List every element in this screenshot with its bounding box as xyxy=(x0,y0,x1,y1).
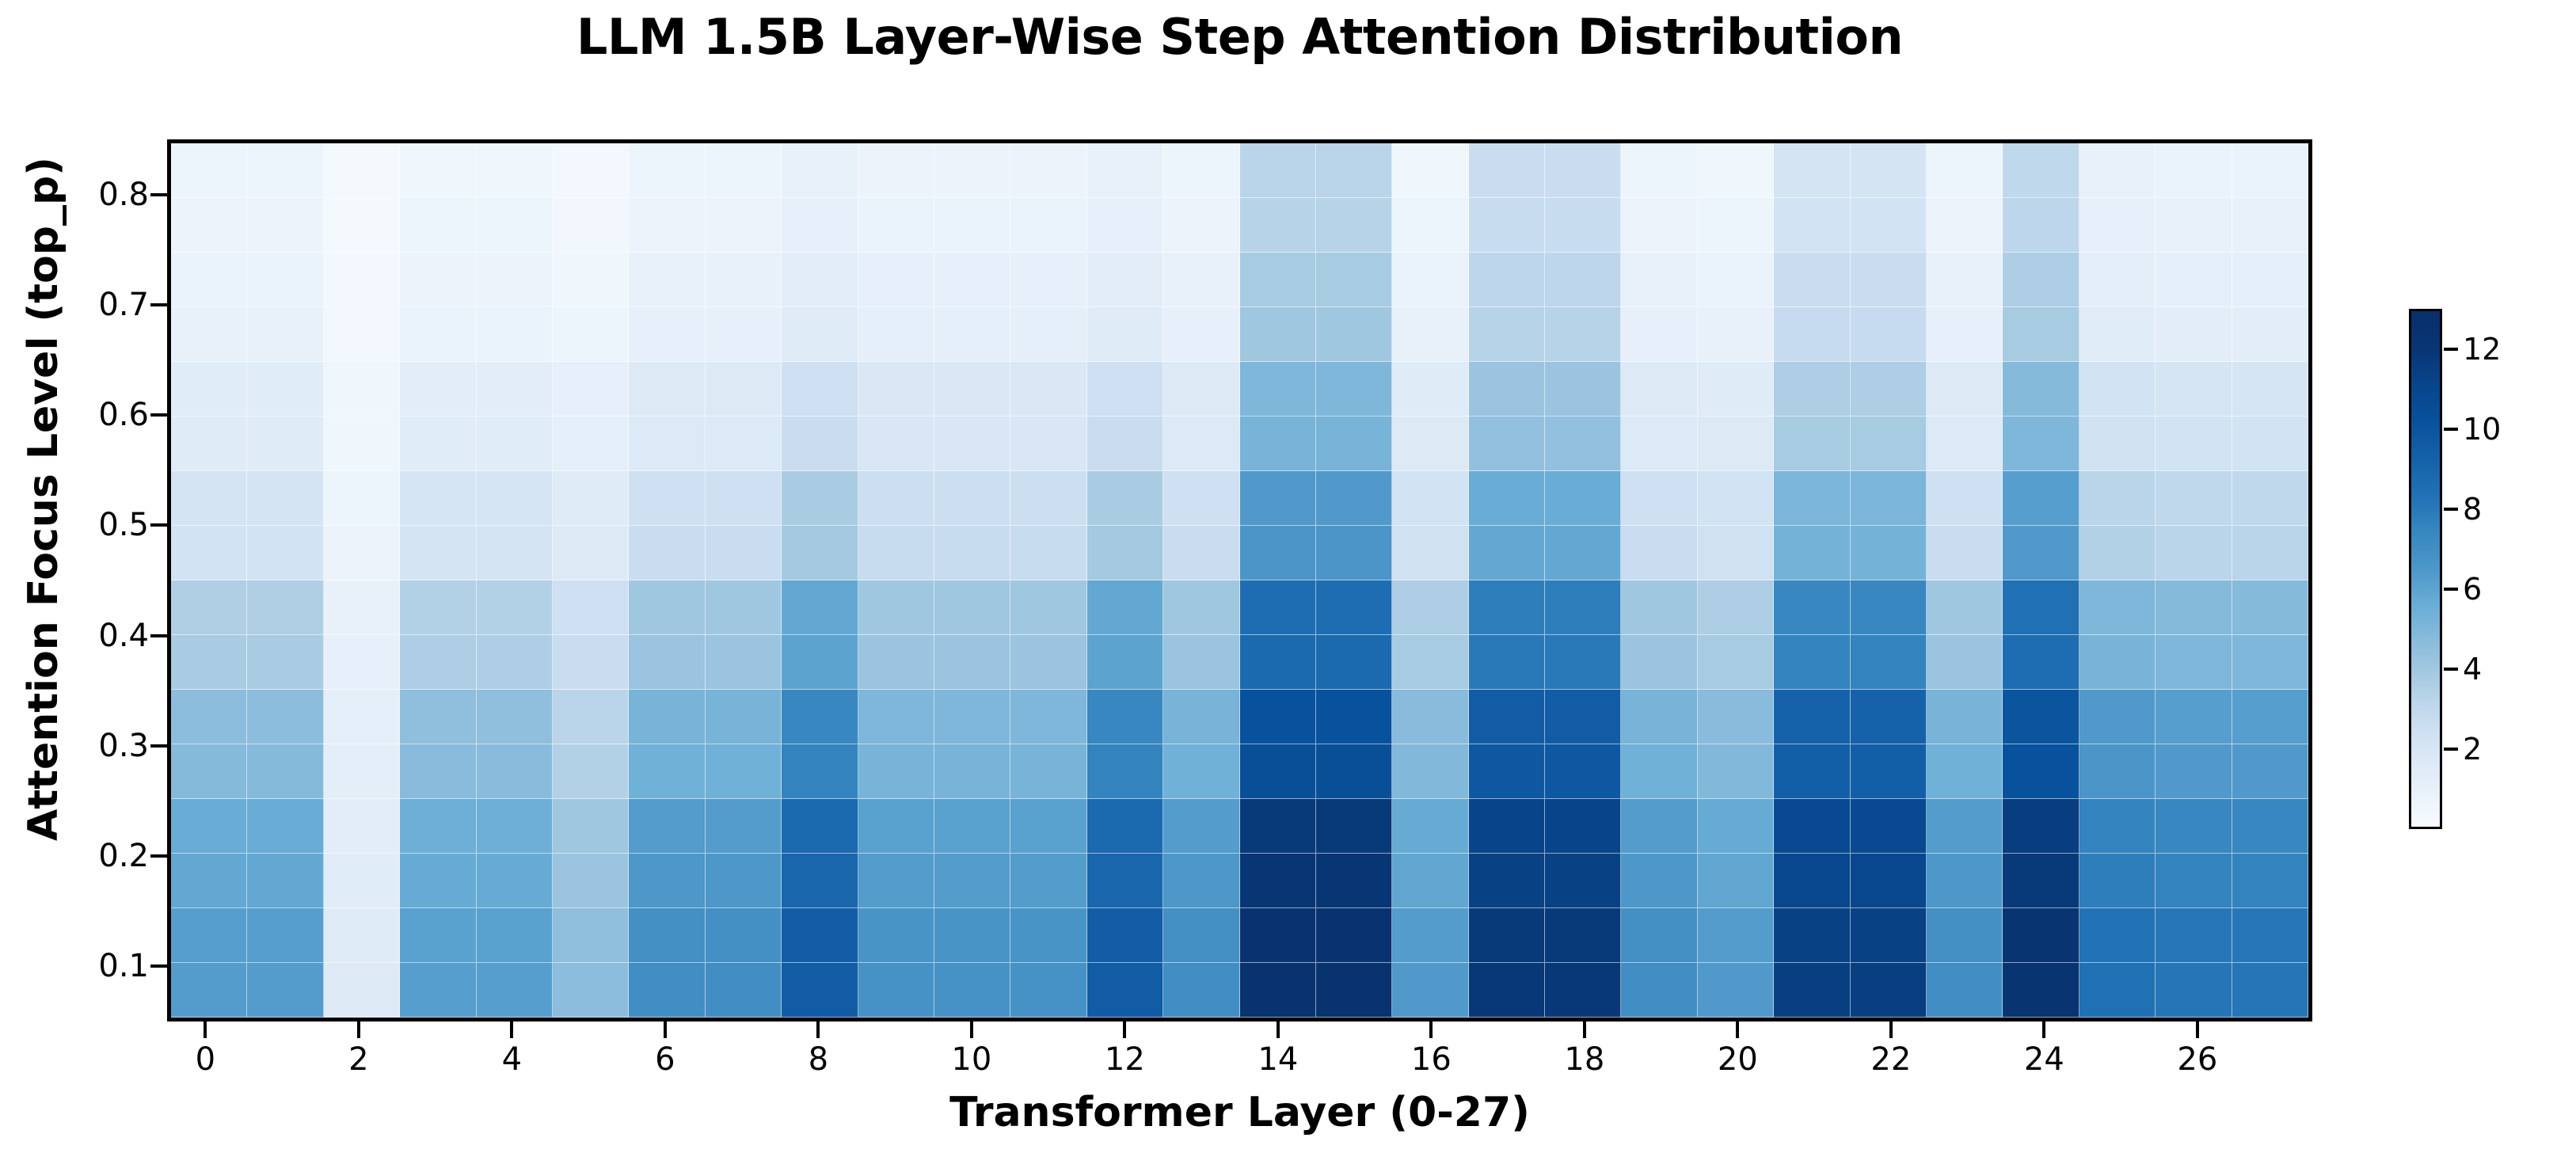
heatmap-cell xyxy=(2079,799,2156,854)
heatmap-cell xyxy=(1545,253,1621,307)
heatmap-cell xyxy=(1774,580,1850,635)
heatmap-cell xyxy=(1469,580,1545,635)
x-tick-mark xyxy=(510,1022,513,1038)
heatmap-cell xyxy=(782,690,858,744)
heatmap-cell xyxy=(1698,744,1774,799)
heatmap-cell xyxy=(247,690,323,744)
x-tick-label: 8 xyxy=(809,1041,828,1078)
heatmap-cell xyxy=(171,744,247,799)
heatmap-cell xyxy=(934,198,1010,253)
heatmap-cell xyxy=(2079,526,2156,580)
heatmap-cell xyxy=(1698,198,1774,253)
heatmap-cell xyxy=(858,417,934,471)
heatmap-cell xyxy=(400,963,476,1018)
heatmap-cell xyxy=(1698,253,1774,307)
x-tick-label: 18 xyxy=(1564,1041,1604,1078)
heatmap-cell xyxy=(2079,854,2156,908)
heatmap-cell xyxy=(1545,854,1621,908)
heatmap-cell xyxy=(782,963,858,1018)
heatmap-cell xyxy=(629,854,705,908)
heatmap-cell xyxy=(1545,198,1621,253)
heatmap-cell xyxy=(1927,253,2003,307)
heatmap-cell xyxy=(1774,908,1850,963)
heatmap-cell xyxy=(553,526,629,580)
heatmap-cell xyxy=(1240,635,1316,690)
heatmap-cell xyxy=(782,253,858,307)
colorbar-tick-label: 8 xyxy=(2463,492,2482,527)
heatmap-cell xyxy=(2079,635,2156,690)
heatmap-cell xyxy=(1087,143,1163,198)
heatmap-cell xyxy=(1087,471,1163,526)
heatmap-cell xyxy=(1774,690,1850,744)
heatmap-cell xyxy=(1851,908,1927,963)
heatmap-cell xyxy=(1545,471,1621,526)
x-tick-label: 4 xyxy=(502,1041,522,1078)
colorbar-tick-label: 4 xyxy=(2463,652,2482,687)
heatmap-cell xyxy=(1927,744,2003,799)
heatmap-cell xyxy=(1469,854,1545,908)
heatmap-cell xyxy=(324,198,400,253)
colorbar-tick-mark xyxy=(2444,348,2458,351)
heatmap-cell xyxy=(324,963,400,1018)
heatmap-cell xyxy=(1010,690,1086,744)
heatmap-cell xyxy=(1087,908,1163,963)
heatmap-cell xyxy=(247,963,323,1018)
heatmap-cell xyxy=(706,253,782,307)
heatmap-cell xyxy=(1621,307,1697,362)
heatmap-cell xyxy=(934,143,1010,198)
heatmap-cell xyxy=(2156,471,2232,526)
heatmap-cell xyxy=(1621,362,1697,417)
heatmap-cell xyxy=(706,143,782,198)
heatmap-cell xyxy=(2232,635,2308,690)
heatmap-cell xyxy=(1163,854,1239,908)
heatmap-cell xyxy=(553,198,629,253)
heatmap-cell xyxy=(1010,963,1086,1018)
heatmap-cell xyxy=(553,854,629,908)
heatmap-cell xyxy=(171,963,247,1018)
heatmap-cell xyxy=(1621,198,1697,253)
heatmap-cell xyxy=(1392,908,1468,963)
heatmap-cell xyxy=(1469,744,1545,799)
y-tick-label: 0.2 xyxy=(0,838,149,874)
x-tick-mark xyxy=(1123,1022,1126,1038)
heatmap-cell xyxy=(1087,690,1163,744)
heatmap-cell xyxy=(1316,635,1392,690)
heatmap-cell xyxy=(1392,307,1468,362)
y-tick-mark xyxy=(150,634,167,637)
heatmap-cell xyxy=(858,307,934,362)
heatmap-cell xyxy=(1927,854,2003,908)
heatmap-cell xyxy=(1240,854,1316,908)
heatmap-cell xyxy=(629,253,705,307)
heatmap-cell xyxy=(1240,362,1316,417)
heatmap-cell xyxy=(2079,580,2156,635)
heatmap-cell xyxy=(782,417,858,471)
x-tick-mark xyxy=(970,1022,973,1038)
heatmap-cell xyxy=(858,854,934,908)
heatmap-cell xyxy=(324,143,400,198)
heatmap-cell xyxy=(247,198,323,253)
heatmap-cell xyxy=(1240,963,1316,1018)
heatmap-cell xyxy=(2079,471,2156,526)
heatmap-cell xyxy=(477,690,553,744)
heatmap-cell xyxy=(782,799,858,854)
heatmap-cell xyxy=(1927,471,2003,526)
heatmap-cell xyxy=(1316,580,1392,635)
heatmap-cell xyxy=(477,253,553,307)
x-tick-label: 2 xyxy=(348,1041,368,1078)
heatmap-cell xyxy=(2232,526,2308,580)
heatmap-cell xyxy=(1392,362,1468,417)
heatmap-cell xyxy=(934,526,1010,580)
heatmap-cell xyxy=(171,690,247,744)
heatmap-cell xyxy=(553,799,629,854)
heatmap-cell xyxy=(477,143,553,198)
heatmap-cell xyxy=(400,908,476,963)
heatmap-cell xyxy=(1010,143,1086,198)
heatmap-cell xyxy=(2232,143,2308,198)
heatmap-cell xyxy=(934,908,1010,963)
heatmap-cell xyxy=(1621,580,1697,635)
heatmap-cell xyxy=(400,799,476,854)
heatmap-cell xyxy=(400,307,476,362)
heatmap-cell xyxy=(2156,307,2232,362)
heatmap-cell xyxy=(782,198,858,253)
heatmap-cell xyxy=(1698,690,1774,744)
heatmap-cell xyxy=(247,580,323,635)
heatmap-cell xyxy=(1469,198,1545,253)
heatmap-cell xyxy=(1316,690,1392,744)
y-tick-label: 0.8 xyxy=(0,177,149,213)
heatmap-cell xyxy=(629,908,705,963)
heatmap-cell xyxy=(934,417,1010,471)
heatmap-cell xyxy=(1927,362,2003,417)
colorbar-tick-mark xyxy=(2444,668,2458,671)
x-tick-mark xyxy=(2196,1022,2199,1038)
heatmap-cell xyxy=(706,417,782,471)
heatmap-cell xyxy=(1163,635,1239,690)
heatmap-cell xyxy=(1163,417,1239,471)
heatmap-cell xyxy=(1240,526,1316,580)
heatmap-cell xyxy=(1163,744,1239,799)
heatmap-cell xyxy=(858,635,934,690)
x-tick-label: 0 xyxy=(196,1041,215,1078)
heatmap-cell xyxy=(1698,635,1774,690)
heatmap-cell xyxy=(477,908,553,963)
heatmap-cell xyxy=(1469,963,1545,1018)
heatmap-cell xyxy=(553,963,629,1018)
heatmap-cell xyxy=(1316,471,1392,526)
heatmap-cell xyxy=(400,690,476,744)
heatmap-cell xyxy=(1774,526,1850,580)
heatmap-cell xyxy=(1774,307,1850,362)
heatmap-cell xyxy=(1469,799,1545,854)
heatmap-cell xyxy=(1087,253,1163,307)
heatmap-cell xyxy=(1851,963,1927,1018)
heatmap-cell xyxy=(1698,580,1774,635)
heatmap-cell xyxy=(782,744,858,799)
heatmap-cell xyxy=(1392,253,1468,307)
heatmap-cell xyxy=(171,198,247,253)
heatmap-cell xyxy=(706,799,782,854)
heatmap-cell xyxy=(1774,198,1850,253)
heatmap-cell xyxy=(1545,908,1621,963)
heatmap-cell xyxy=(1698,143,1774,198)
heatmap-cell xyxy=(629,198,705,253)
heatmap-cell xyxy=(629,526,705,580)
heatmap-cell xyxy=(400,580,476,635)
heatmap-cell xyxy=(1927,198,2003,253)
heatmap-cell xyxy=(934,580,1010,635)
heatmap-cell xyxy=(858,143,934,198)
heatmap-cell xyxy=(2232,744,2308,799)
heatmap-cell xyxy=(1621,744,1697,799)
heatmap-cell xyxy=(1163,471,1239,526)
y-tick-label: 0.1 xyxy=(0,948,149,984)
heatmap-cell xyxy=(1469,417,1545,471)
heatmap-cell xyxy=(324,580,400,635)
heatmap-cell xyxy=(1163,690,1239,744)
heatmap-cell xyxy=(2156,908,2232,963)
heatmap-cell xyxy=(1774,143,1850,198)
heatmap-cell xyxy=(247,143,323,198)
x-tick-mark xyxy=(664,1022,667,1038)
heatmap-cell xyxy=(2232,471,2308,526)
heatmap-cell xyxy=(629,362,705,417)
heatmap-cell xyxy=(706,580,782,635)
heatmap-cell xyxy=(1621,854,1697,908)
heatmap-cell xyxy=(477,362,553,417)
heatmap-cell xyxy=(2156,690,2232,744)
heatmap-cell xyxy=(629,963,705,1018)
heatmap-cell xyxy=(2079,690,2156,744)
heatmap-cell xyxy=(629,143,705,198)
heatmap-cell xyxy=(1545,417,1621,471)
heatmap-cell xyxy=(1010,854,1086,908)
heatmap-cell xyxy=(477,963,553,1018)
heatmap-cell xyxy=(2232,854,2308,908)
heatmap-cell xyxy=(1087,854,1163,908)
heatmap-cell xyxy=(2003,143,2079,198)
heatmap-cell xyxy=(1698,526,1774,580)
heatmap-cell xyxy=(1851,690,1927,744)
heatmap-cell xyxy=(2232,690,2308,744)
heatmap-cell xyxy=(1163,198,1239,253)
heatmap-cell xyxy=(2003,362,2079,417)
heatmap-cell xyxy=(1316,362,1392,417)
heatmap-cell xyxy=(2079,417,2156,471)
heatmap-cell xyxy=(400,198,476,253)
heatmap-cell xyxy=(706,471,782,526)
heatmap-cell xyxy=(1010,799,1086,854)
y-tick-mark xyxy=(150,523,167,527)
heatmap-cell xyxy=(477,580,553,635)
heatmap-cell xyxy=(1469,143,1545,198)
heatmap-cell xyxy=(1163,580,1239,635)
heatmap-cell xyxy=(1240,417,1316,471)
heatmap-cell xyxy=(858,580,934,635)
heatmap-cell xyxy=(858,690,934,744)
heatmap-cell xyxy=(324,908,400,963)
heatmap-cell xyxy=(1163,799,1239,854)
heatmap-cell xyxy=(2003,908,2079,963)
chart-figure: LLM 1.5B Layer-Wise Step Attention Distr… xyxy=(0,0,2576,1168)
heatmap-cell xyxy=(2079,963,2156,1018)
colorbar-tick-mark xyxy=(2444,748,2458,751)
heatmap-cell xyxy=(2003,799,2079,854)
heatmap-cell xyxy=(1240,580,1316,635)
heatmap-cell xyxy=(934,471,1010,526)
y-tick-mark xyxy=(150,854,167,858)
heatmap-cell xyxy=(400,417,476,471)
heatmap-cell xyxy=(2232,963,2308,1018)
heatmap-cell xyxy=(1851,526,1927,580)
heatmap-cell xyxy=(934,635,1010,690)
y-tick-label: 0.5 xyxy=(0,507,149,543)
x-tick-label: 14 xyxy=(1258,1041,1298,1078)
heatmap-cell xyxy=(2003,690,2079,744)
colorbar-tick-mark xyxy=(2444,508,2458,511)
heatmap-cell xyxy=(400,143,476,198)
heatmap-cell xyxy=(1469,908,1545,963)
heatmap-cell xyxy=(1469,690,1545,744)
heatmap-cell xyxy=(1545,143,1621,198)
x-tick-mark xyxy=(1583,1022,1586,1038)
heatmap-cell xyxy=(247,744,323,799)
heatmap-cell xyxy=(1851,253,1927,307)
heatmap-cell xyxy=(1240,471,1316,526)
heatmap-cell xyxy=(1851,417,1927,471)
heatmap-plot-area xyxy=(167,139,2312,1022)
heatmap-cell xyxy=(2003,471,2079,526)
heatmap-cell xyxy=(1621,143,1697,198)
heatmap-cell xyxy=(171,635,247,690)
heatmap-cell xyxy=(1163,253,1239,307)
heatmap-cell xyxy=(1010,635,1086,690)
heatmap-cell xyxy=(477,854,553,908)
heatmap-cell xyxy=(1698,963,1774,1018)
heatmap-cell xyxy=(1621,253,1697,307)
y-tick-mark xyxy=(150,303,167,306)
heatmap-cell xyxy=(1774,744,1850,799)
heatmap-cell xyxy=(858,362,934,417)
heatmap-cell xyxy=(2232,799,2308,854)
heatmap-cell xyxy=(2156,362,2232,417)
heatmap-cell xyxy=(1392,417,1468,471)
y-tick-label: 0.7 xyxy=(0,287,149,323)
x-tick-mark xyxy=(357,1022,360,1038)
heatmap-cell xyxy=(1392,143,1468,198)
heatmap-cell xyxy=(400,635,476,690)
y-tick-mark xyxy=(150,413,167,417)
heatmap-cell xyxy=(1698,307,1774,362)
heatmap-cell xyxy=(1927,417,2003,471)
x-tick-label: 24 xyxy=(2024,1041,2064,1078)
heatmap-cell xyxy=(1774,362,1850,417)
heatmap-cell xyxy=(1851,143,1927,198)
heatmap-cell xyxy=(1698,471,1774,526)
heatmap-cell xyxy=(1469,362,1545,417)
heatmap-cell xyxy=(2003,253,2079,307)
heatmap-cell xyxy=(1163,143,1239,198)
x-tick-mark xyxy=(1277,1022,1280,1038)
x-tick-mark xyxy=(2042,1022,2045,1038)
heatmap-cell xyxy=(1392,690,1468,744)
heatmap-cell xyxy=(1087,635,1163,690)
heatmap-cell xyxy=(1010,908,1086,963)
heatmap-cell xyxy=(782,908,858,963)
heatmap-cell xyxy=(553,908,629,963)
heatmap-cell xyxy=(2003,417,2079,471)
heatmap-cell xyxy=(1545,362,1621,417)
heatmap-cell xyxy=(2003,307,2079,362)
heatmap-cell xyxy=(706,854,782,908)
x-tick-label: 26 xyxy=(2177,1041,2217,1078)
heatmap-cell xyxy=(171,143,247,198)
x-tick-label: 6 xyxy=(655,1041,675,1078)
heatmap-cell xyxy=(858,908,934,963)
heatmap-cell xyxy=(1927,580,2003,635)
heatmap-cell xyxy=(1469,471,1545,526)
heatmap-cell xyxy=(1010,471,1086,526)
heatmap-cell xyxy=(477,744,553,799)
x-tick-mark xyxy=(204,1022,207,1038)
heatmap-cell xyxy=(2156,417,2232,471)
heatmap-cell xyxy=(1545,635,1621,690)
heatmap-cell xyxy=(782,854,858,908)
heatmap-cell xyxy=(324,799,400,854)
heatmap-cell xyxy=(2079,908,2156,963)
heatmap-cell xyxy=(1851,799,1927,854)
heatmap-cell xyxy=(629,635,705,690)
colorbar-tick-label: 2 xyxy=(2463,732,2482,767)
heatmap-cell xyxy=(553,690,629,744)
heatmap-cell xyxy=(1774,963,1850,1018)
heatmap-cell xyxy=(1010,362,1086,417)
heatmap-cell xyxy=(1545,744,1621,799)
heatmap-cell xyxy=(324,744,400,799)
heatmap-cell xyxy=(2156,580,2232,635)
heatmap-cell xyxy=(171,799,247,854)
heatmap-cell xyxy=(247,908,323,963)
heatmap-cell xyxy=(171,362,247,417)
heatmap-cell xyxy=(706,908,782,963)
y-tick-label: 0.3 xyxy=(0,728,149,764)
heatmap-cell xyxy=(1545,690,1621,744)
heatmap-cell xyxy=(1469,635,1545,690)
heatmap-cell xyxy=(1316,854,1392,908)
heatmap-cell xyxy=(1851,471,1927,526)
heatmap-cell xyxy=(2003,744,2079,799)
x-tick-label: 16 xyxy=(1411,1041,1452,1078)
chart-title: LLM 1.5B Layer-Wise Step Attention Distr… xyxy=(167,8,2312,66)
heatmap-cell xyxy=(1698,854,1774,908)
heatmap-cell xyxy=(1927,307,2003,362)
heatmap-cell xyxy=(2003,854,2079,908)
heatmap-cell xyxy=(1927,143,2003,198)
heatmap-cell xyxy=(1163,963,1239,1018)
y-tick-label: 0.6 xyxy=(0,397,149,433)
heatmap-cell xyxy=(1392,471,1468,526)
heatmap-cell xyxy=(1851,635,1927,690)
x-tick-label: 12 xyxy=(1105,1041,1145,1078)
heatmap-cell xyxy=(324,854,400,908)
heatmap-cell xyxy=(2003,198,2079,253)
heatmap-cell xyxy=(324,690,400,744)
heatmap-cell xyxy=(2079,253,2156,307)
heatmap-cell xyxy=(247,253,323,307)
